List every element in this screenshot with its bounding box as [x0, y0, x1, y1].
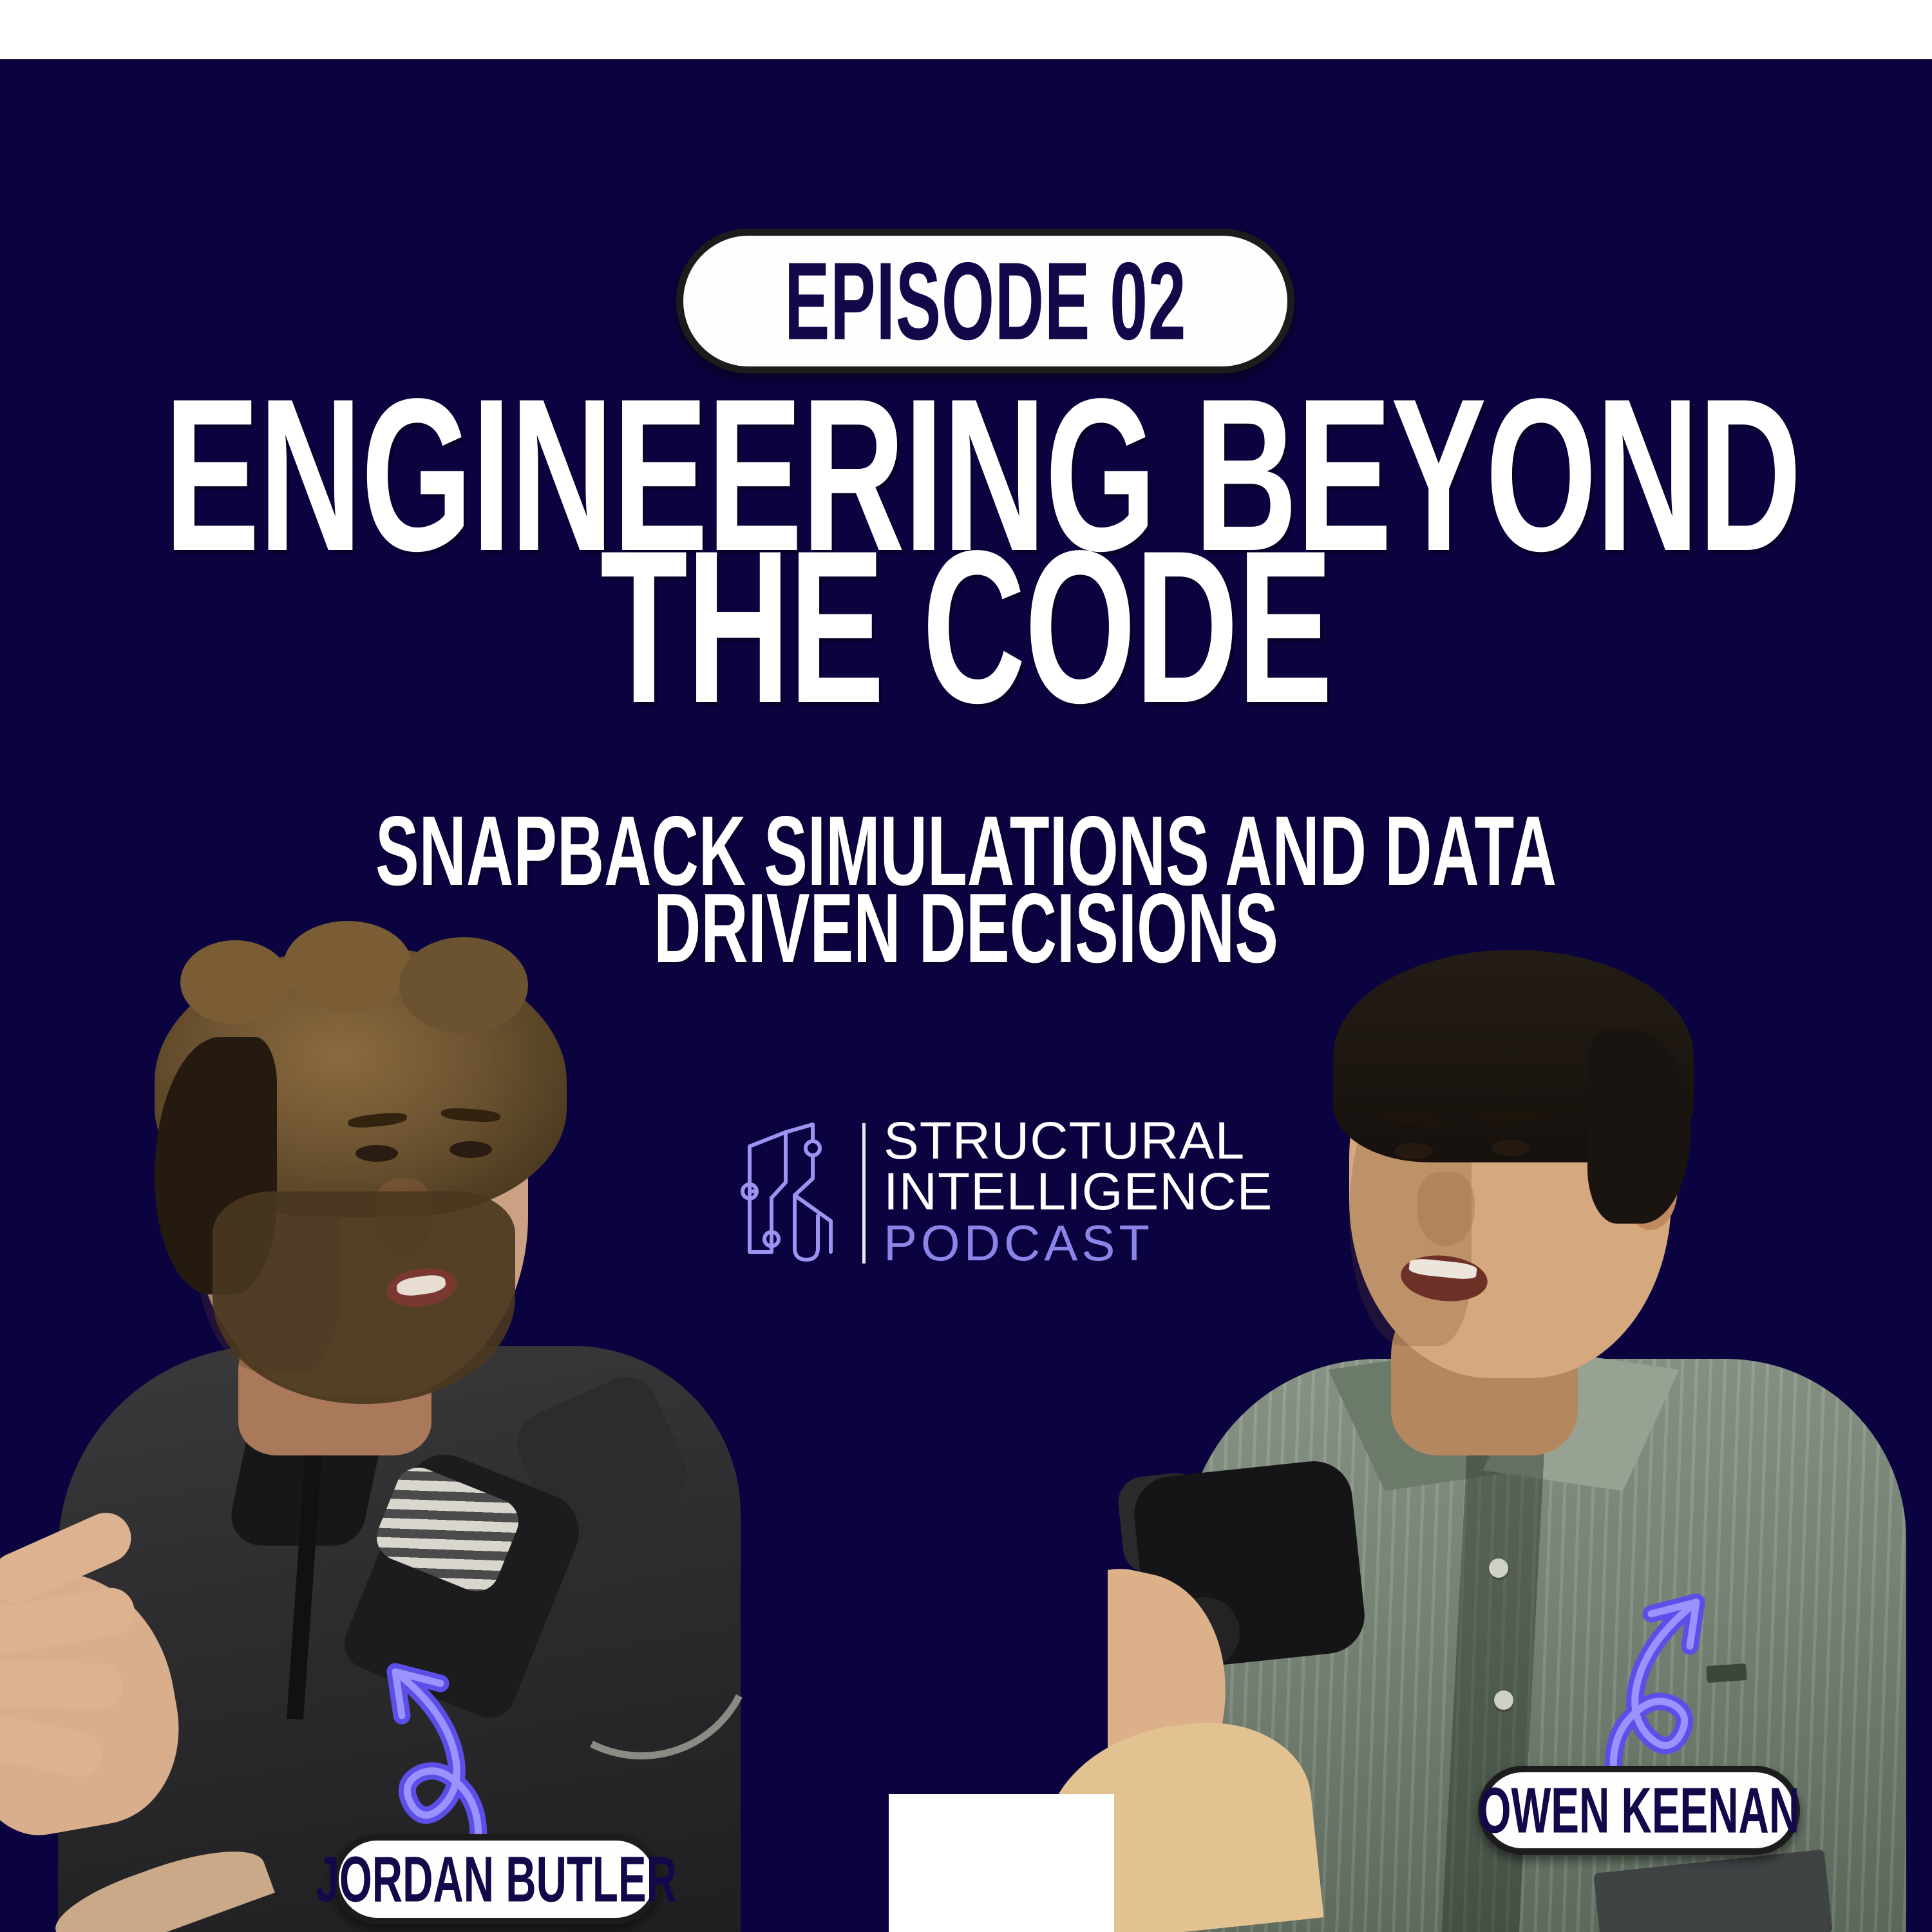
- structural-node-mark-icon: [741, 1119, 860, 1267]
- page-subtitle: SNAPBACK SIMULATIONS AND DATA DRIVEN DEC…: [0, 813, 1932, 968]
- logo-line-structural: STRUCTURAL: [884, 1116, 1273, 1167]
- guest-name-label-left: JORDAN BUTLER: [316, 1842, 677, 1917]
- left-guest-eye: [355, 1145, 398, 1162]
- right-guest-nose: [1417, 1172, 1475, 1246]
- episode-badge-label: EPISODE 02: [784, 238, 1186, 364]
- podcast-episode-cover: EPISODE 02 ENGINEERING BEYOND THE CODE S…: [0, 0, 1932, 1932]
- logo-divider: [862, 1123, 866, 1264]
- title-line-2: THE CODE: [164, 531, 1768, 723]
- subtitle-line-2: DRIVEN DECISIONS: [135, 878, 1797, 979]
- right-guest-eye: [1394, 1143, 1433, 1159]
- left-guest-finger: [0, 1659, 123, 1710]
- podcast-logo: STRUCTURAL INTELLIGENCE PODCAST: [741, 1114, 1230, 1272]
- center-white-gap: [889, 1794, 1114, 1932]
- left-guest-beard: [213, 1191, 515, 1404]
- episode-badge[interactable]: EPISODE 02: [676, 229, 1294, 374]
- guest-name-label-right: OWEN KEENAN: [1479, 1773, 1800, 1848]
- logo-wordmark: STRUCTURAL INTELLIGENCE PODCAST: [884, 1116, 1273, 1270]
- right-guest-shirt-button: [1494, 1690, 1513, 1710]
- left-guest-eye: [450, 1141, 492, 1158]
- guest-name-badge-left[interactable]: JORDAN BUTLER: [332, 1834, 661, 1924]
- logo-line-podcast: PODCAST: [884, 1217, 1273, 1270]
- guest-name-badge-right[interactable]: OWEN KEENAN: [1478, 1766, 1800, 1855]
- right-guest-shirt-button: [1489, 1558, 1508, 1578]
- logo-line-intelligence: INTELLIGENCE: [884, 1167, 1273, 1218]
- page-title: ENGINEERING BEYOND THE CODE: [0, 399, 1932, 703]
- right-guest-eye: [1492, 1140, 1530, 1156]
